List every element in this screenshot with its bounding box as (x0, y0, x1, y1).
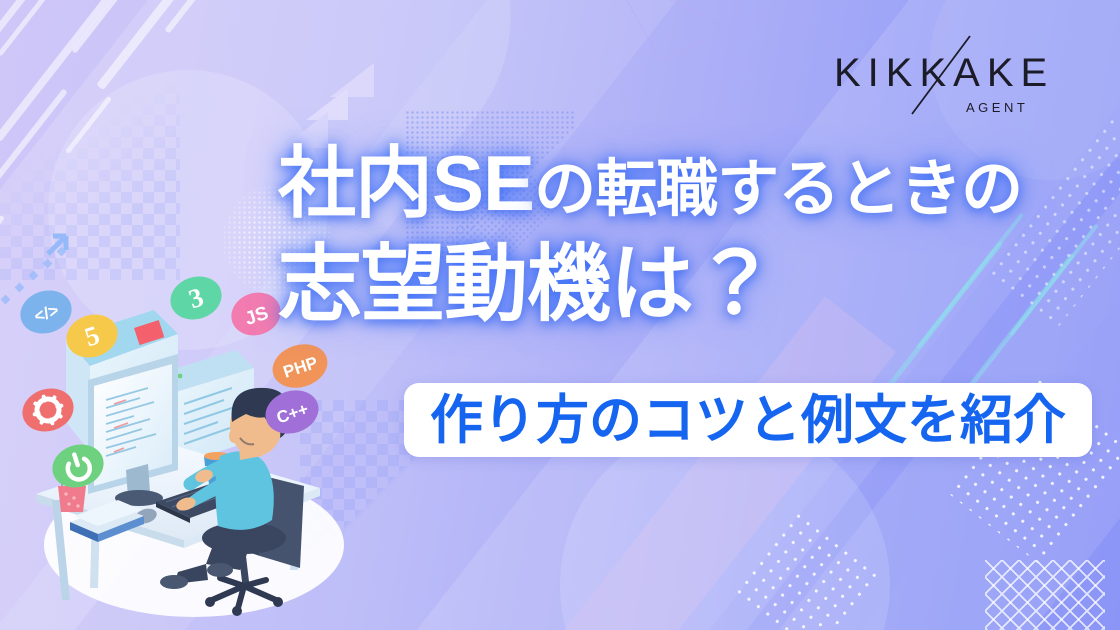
headline-emphasis: 社内SE (278, 139, 534, 227)
logo-letters: KIKKAKE (834, 51, 1054, 95)
diamond-grid-2 (0, 60, 180, 280)
php-badge: PHP (267, 337, 333, 394)
subtitle-pill-label: 作り方のコツと例文を紹介 (430, 394, 1066, 447)
kikkake-agent-logo[interactable]: KIKKAKE AGENT (834, 34, 1086, 120)
arrow-trail-dot (57, 247, 67, 257)
decor-stripe (0, 88, 68, 241)
decor-stripe (0, 215, 5, 265)
decor-stripe (0, 0, 130, 142)
arrow-trail-head-icon (44, 232, 74, 260)
css3-badge: 3 (165, 270, 227, 326)
headline: 社内SEの転職するときの 志望動機は？ (278, 144, 1098, 326)
decor-stripe (0, 0, 42, 96)
decor-triangle (330, 63, 374, 97)
decor-triangle (306, 88, 348, 120)
decor-stripe (65, 96, 112, 154)
arrow-trail-dot (43, 259, 53, 269)
headline-line-2: 志望動機は？ (278, 242, 1098, 326)
person-ear (229, 429, 239, 443)
person-shoe (160, 575, 188, 589)
decor-stripe (0, 0, 60, 56)
decor-stripe (96, 0, 205, 90)
decor-stripe (164, 0, 233, 34)
decor-polygon-outline (600, 0, 800, 70)
pen-cup (58, 486, 86, 512)
square-dot-grid-2 (730, 508, 884, 630)
logo-subtitle: AGENT (966, 100, 1028, 115)
logo-wordmark: KIKKAKE (834, 51, 1054, 95)
diamond-lattice (985, 560, 1105, 630)
decor-stripe (72, 0, 150, 54)
blog-hero-banner: </> 5 3 JS PHP C++ (0, 0, 1120, 630)
subtitle-pill: 作り方のコツと例文を紹介 (404, 383, 1092, 457)
headline-line-1: 社内SEの転職するときの (278, 144, 1098, 222)
headline-line-1-rest: の転職するときの (534, 155, 1022, 224)
person-shoe (207, 563, 233, 577)
diagonal-band-pink (394, 296, 896, 630)
